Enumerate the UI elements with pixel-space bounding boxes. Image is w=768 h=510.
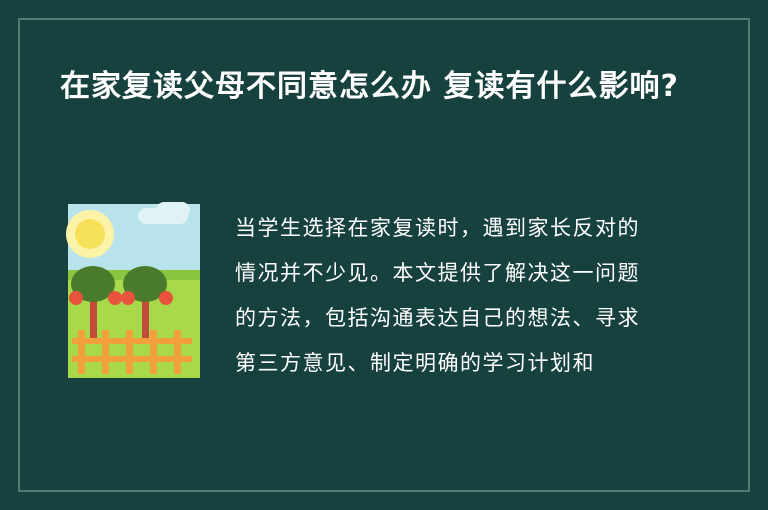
content-area: 当学生选择在家复读时，遇到家长反对的情况并不少见。本文提供了解决这一问题的方法，… <box>60 198 700 458</box>
garden-landscape-illustration <box>60 198 208 390</box>
body-paragraph: 当学生选择在家复读时，遇到家长反对的情况并不少见。本文提供了解决这一问题的方法，… <box>235 206 655 386</box>
poster-card: 在家复读父母不同意怎么办 复读有什么影响? <box>0 0 768 510</box>
page-title: 在家复读父母不同意怎么办 复读有什么影响? <box>60 62 690 112</box>
